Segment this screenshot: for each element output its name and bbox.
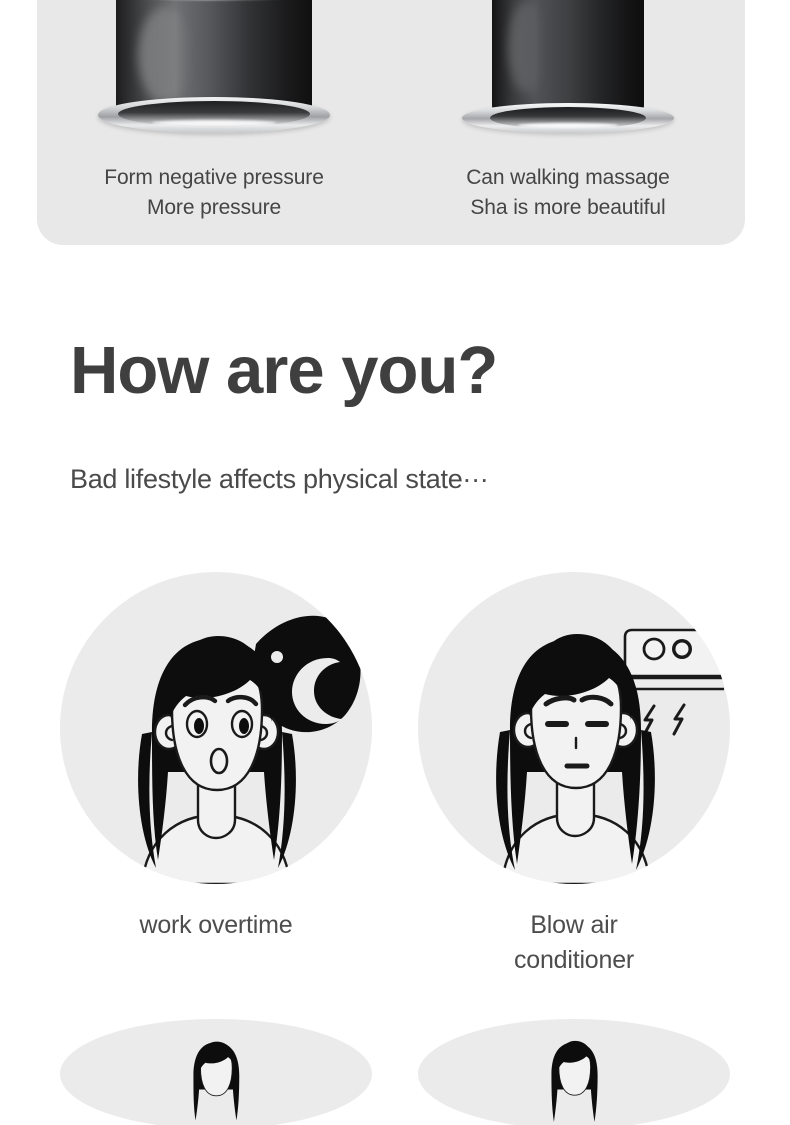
product-feature-grid: Form negative pressure More pressure	[37, 0, 745, 245]
lifestyle-illustration-grid: work overtime	[37, 572, 753, 1125]
product-feature-caption-1: Form negative pressure More pressure	[104, 163, 324, 223]
product-feature-item-1: Form negative pressure More pressure	[37, 0, 391, 245]
lifestyle-item-partial-right	[395, 1019, 753, 1125]
caption-line-1: Can walking massage	[466, 163, 670, 193]
lifestyle-caption-work-overtime: work overtime	[140, 908, 293, 943]
cupping-cup-wide-icon	[37, 0, 391, 147]
woman-air-conditioner-illustration-icon	[418, 572, 730, 884]
caption-line-2: Sha is more beautiful	[466, 193, 670, 223]
caption-line-1: Form negative pressure	[104, 163, 324, 193]
woman-illustration-partial-right-icon	[418, 1019, 730, 1125]
caption-line-2: conditioner	[514, 943, 634, 978]
lifestyle-item-work-overtime: work overtime	[37, 572, 395, 977]
lifestyle-row-2	[37, 1019, 753, 1125]
lifestyle-item-air-conditioner: Blow air conditioner	[395, 572, 753, 977]
woman-night-moon-illustration-icon	[60, 572, 372, 884]
page-title: How are you?	[70, 337, 497, 404]
woman-illustration-partial-left-icon	[60, 1019, 372, 1125]
caption-line-1: work overtime	[140, 908, 293, 943]
lifestyle-caption-air-conditioner: Blow air conditioner	[514, 908, 634, 977]
caption-line-1: Blow air	[514, 908, 634, 943]
product-feature-panel: Form negative pressure More pressure	[37, 0, 745, 245]
lifestyle-row-1: work overtime	[37, 572, 753, 977]
product-feature-item-2: Can walking massage Sha is more beautifu…	[391, 0, 745, 245]
lifestyle-item-partial-left	[37, 1019, 395, 1125]
page-subtitle: Bad lifestyle affects physical state···	[70, 466, 488, 493]
caption-line-2: More pressure	[104, 193, 324, 223]
cupping-cup-narrow-icon	[391, 0, 745, 147]
product-landing-page: Form negative pressure More pressure	[0, 0, 790, 1125]
product-feature-caption-2: Can walking massage Sha is more beautifu…	[466, 163, 670, 223]
